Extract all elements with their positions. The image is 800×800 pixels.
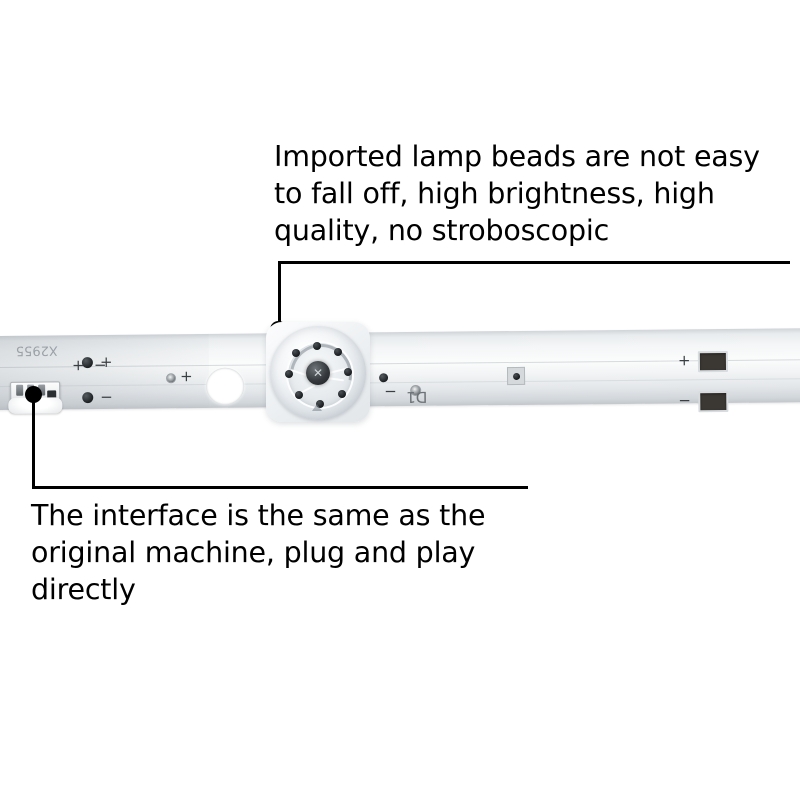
pad-label-minus: − [100,390,113,405]
callout-line: quality, no stroboscopic [274,212,794,249]
callout-line: original machine, plug and play [31,534,551,571]
bottom-callout-leader-vertical [32,394,35,489]
lens-alignment-notch [312,404,322,411]
led-strip: X2955 + − + − + − D1 + − [0,318,800,426]
terminal-label-plus: + [678,353,691,368]
magnified-lamp-bead [264,318,372,426]
top-callout-leader-horizontal [278,261,790,264]
terminal-label-minus: − [678,393,691,408]
lamp-bead-lens [270,326,366,420]
pad-label-plus: + [100,355,113,370]
via-label-plus: + [180,369,193,384]
bottom-callout-anchor-dot [25,386,42,403]
lens-dot-3 [334,348,342,356]
solder-pad-mid-minus [379,373,388,382]
callout-line: The interface is the same as the [31,497,551,534]
silkscreen-part-code: X2955 [16,343,58,356]
lens-dot-2 [313,342,321,350]
infographic-canvas: X2955 + − + − + − D1 + − [0,0,800,800]
pcb-board: X2955 + − + − + − D1 + − [0,328,800,410]
terminal-pad-plus [698,351,728,372]
callout-text-lamp-beads: Imported lamp beads are not easy to fall… [274,138,794,249]
via-pad-small [166,373,176,383]
lens-dot-4 [344,368,352,376]
callout-line: to fall off, high brightness, high [274,175,794,212]
connector-pin-1 [16,385,23,396]
callout-text-interface: The interface is the same as the origina… [31,497,551,608]
lens-emitter-core [306,361,330,385]
callout-line: directly [31,571,551,608]
callout-line: Imported lamp beads are not easy [274,138,794,175]
bottom-callout-leader-horizontal [32,486,528,489]
lens-dot-1 [292,349,300,357]
lens-dot-8 [285,370,293,378]
lens-dot-7 [295,391,303,399]
pad-label-mid-minus: − [384,384,397,399]
solder-pad-minus [82,392,93,403]
lens-dot-5 [338,390,346,398]
solder-pad-plus [82,357,93,368]
test-point-pad [507,367,525,385]
mounting-hole [206,368,244,405]
terminal-pad-minus [698,391,728,412]
silkscreen-diode-label: D1 [406,389,427,404]
